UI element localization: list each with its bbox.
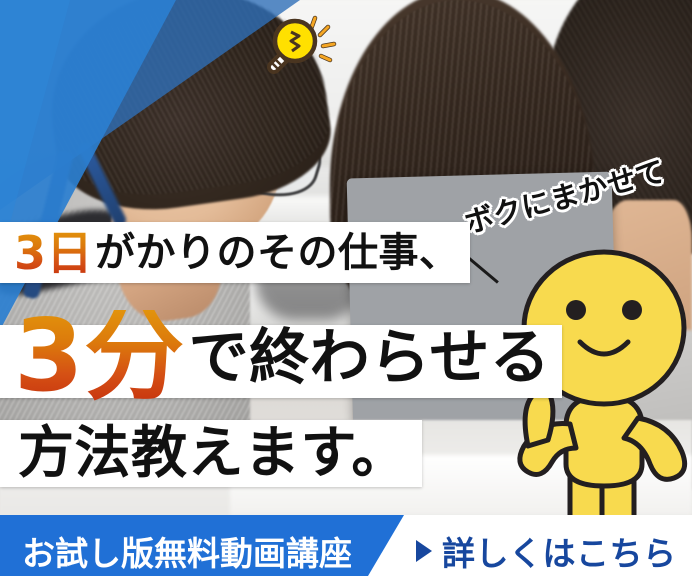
headline-2-highlight: 3分 (14, 310, 185, 402)
lightbulb-icon (258, 8, 340, 80)
headline-3-text: 方法教えます。 (18, 426, 408, 482)
mascot-eye-right (622, 300, 642, 320)
cta-link[interactable]: 詳しくはこちら (416, 527, 677, 575)
cta-bar: お試し版無料動画講座 詳しくはこちら (0, 515, 692, 576)
headline-2-highlight-wrap: 3分 (14, 297, 185, 402)
play-arrow-icon (416, 540, 432, 562)
ad-banner: ボクにまかせて 3日 がかりのその仕事、 3分 で終わらせる 3分 (0, 0, 692, 576)
mascot-eye-left (566, 300, 586, 320)
headline-1-rest: がかりのその仕事、 (95, 233, 460, 273)
headline-line-1: 3日 がかりのその仕事、 (0, 222, 470, 283)
cta-link-label: 詳しくはこちら (442, 527, 677, 575)
cta-badge-label: お試し版無料動画講座 (22, 527, 352, 575)
headline-line-3: 方法教えます。 (0, 420, 422, 487)
headline-1-highlight: 3日 (14, 230, 93, 276)
headline-2-rest: で終わらせる (189, 328, 551, 388)
